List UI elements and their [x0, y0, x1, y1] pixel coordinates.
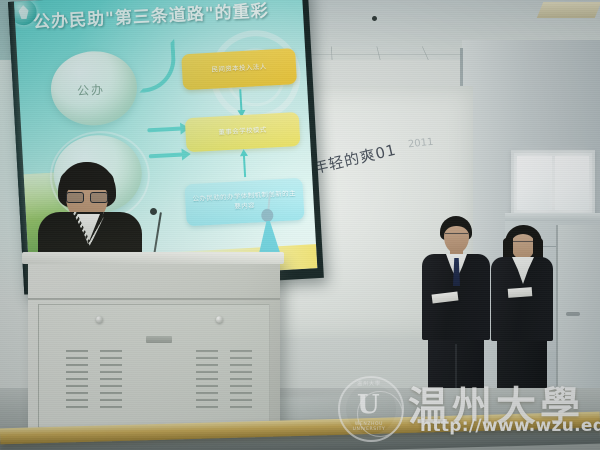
slide-title: 公办民助"第三条道路"的重彩 [32, 0, 269, 33]
slide-figure-decoration [253, 192, 283, 257]
podium-vent-3 [196, 350, 218, 410]
woman-glasses-icon [511, 241, 535, 247]
presenter-glasses-icon [66, 192, 108, 202]
window-pane-left [517, 156, 552, 210]
curve-arrow-icon [136, 39, 177, 93]
arrow-up-icon-1 [243, 155, 246, 177]
presentation-photo: 2011 年轻的爽01 公办民助"第三条道路"的重彩 公办 民助 [0, 0, 600, 450]
presenter-fringe [60, 168, 114, 190]
window-sill [505, 213, 600, 221]
flow-box-1: 民间资本投入法人 [181, 48, 297, 90]
podium [28, 258, 280, 434]
podium-vent-4 [230, 350, 252, 410]
man-glasses-icon [445, 233, 468, 239]
podium-desktop [22, 252, 284, 264]
podium-divider [28, 298, 280, 300]
concept-blob-public-label: 公办 [77, 81, 106, 100]
podium-vent-1 [66, 350, 88, 410]
podium-vent-2 [100, 350, 122, 410]
flow-box-3: 公办民助的办学体制机制创新的主要内容 [184, 178, 304, 227]
podium-handle-slot[interactable] [146, 336, 172, 343]
window-pane-right [555, 156, 590, 210]
podium-lock-knob-right[interactable] [216, 316, 223, 323]
microphone-head-icon [150, 208, 157, 215]
flow-box-2: 董事会学校模式 [185, 112, 301, 152]
ceiling-light-icon [537, 2, 600, 18]
woman-skirt [497, 337, 547, 389]
woman-paper-card [508, 287, 533, 298]
arrow-right-icon-low [149, 152, 183, 158]
window [511, 150, 595, 216]
figure-head [261, 209, 274, 223]
door-handle-icon[interactable] [566, 312, 580, 316]
ceiling-fixture-dot [372, 16, 377, 21]
podium-lock-knob-left[interactable] [96, 316, 103, 323]
arrow-right-icon-mid [147, 127, 181, 133]
man-trouser-seam [455, 344, 457, 392]
figure-body [257, 220, 281, 255]
